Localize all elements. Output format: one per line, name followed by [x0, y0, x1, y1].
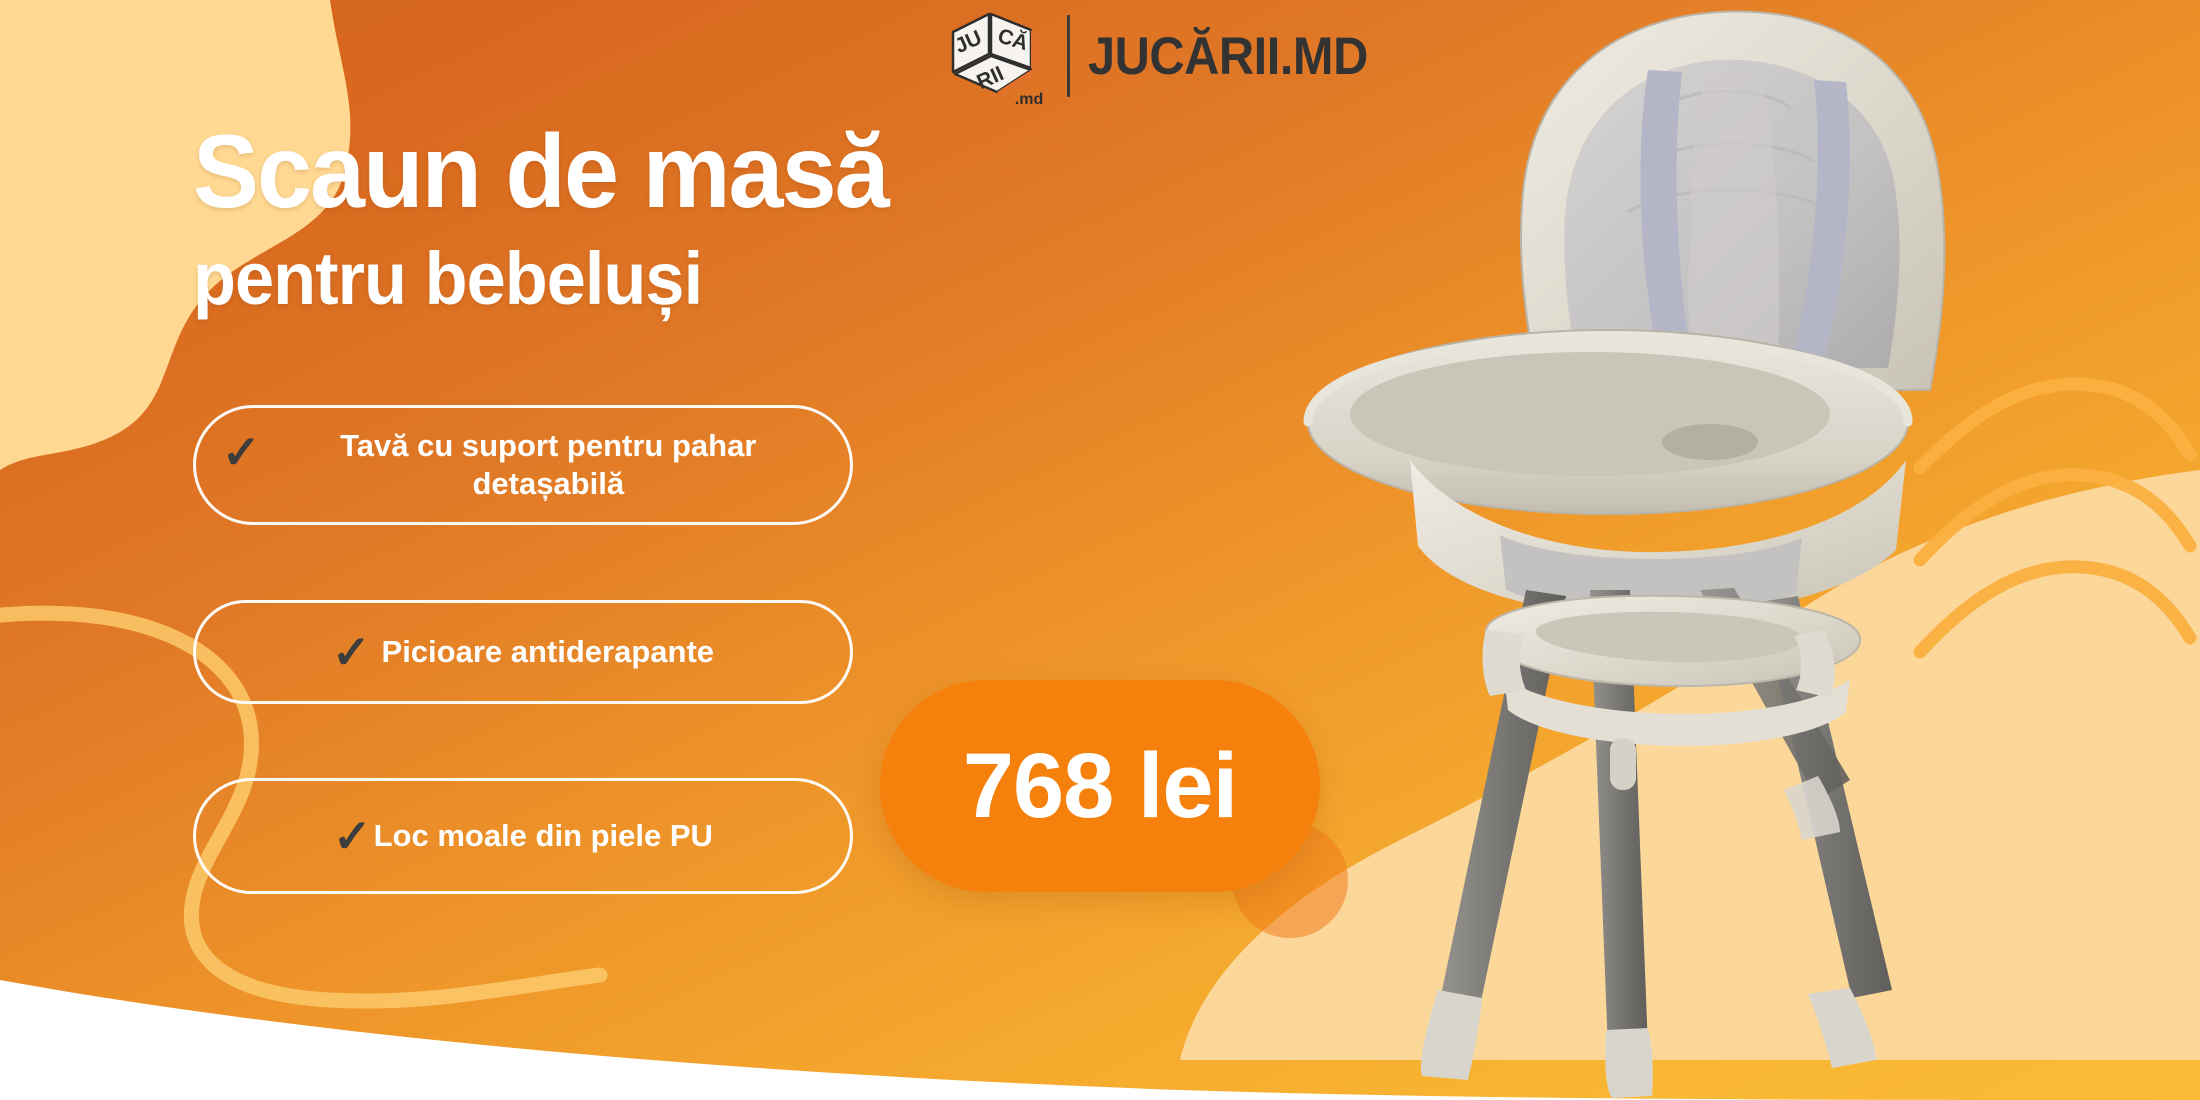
chair-foot-cap-right: [1808, 988, 1876, 1068]
feature-pill-legs[interactable]: ✓ Picioare antiderapante: [193, 600, 853, 704]
cushion-stitch-2: [1640, 144, 1815, 165]
cushion-stitch-1: [1660, 91, 1790, 110]
white-sweep-bottom-left: [0, 980, 2200, 1100]
chair-lower-brace-right: [1794, 630, 1835, 698]
chair-leg-front-right: [1760, 596, 1892, 998]
wave-line-right-1: [1920, 384, 2190, 468]
price-badge[interactable]: 768 lei: [880, 680, 1320, 892]
white-sweep-extra: [0, 985, 980, 1100]
logo-divider: [1067, 15, 1070, 97]
feature-pill-seat[interactable]: ✓ Loc moale din piele PU: [193, 778, 853, 894]
chair-foot-cap-rear-right: [1784, 776, 1840, 840]
wave-line-right-2: [1920, 475, 2190, 560]
cushion-stitch-3: [1628, 190, 1828, 212]
chair-footrest-inner: [1536, 612, 1802, 663]
feature-label: Tavă cu suport pentru pahar detașabilă: [273, 427, 824, 503]
chair-leg-front-left: [1440, 590, 1566, 1006]
chair-footrest: [1486, 596, 1860, 686]
chair-backrest-shell: [1521, 12, 1944, 390]
chair-lower-brace: [1483, 630, 1526, 696]
feature-pill-tray[interactable]: ✓ Tavă cu suport pentru pahar detașabilă: [193, 405, 853, 525]
chair-tray: [1308, 330, 1908, 514]
chair-seat-front-pad: [1500, 535, 1802, 612]
headline-line-1: Scaun de masă: [193, 120, 888, 224]
chair-seat-cushion: [1564, 60, 1899, 368]
price-value: 768 lei: [963, 740, 1237, 832]
feature-label: Loc moale din piele PU: [374, 818, 713, 854]
check-icon: ✓: [333, 818, 372, 855]
chair-foot-cap-left: [1421, 990, 1482, 1080]
headline-line-2: pentru bebeluși: [193, 242, 888, 316]
harness-strap-left: [1640, 70, 1694, 372]
jucarii-cube-icon: JU CĂ RII .md: [945, 6, 1049, 106]
wave-line-right-3: [1920, 567, 2190, 652]
brand-logo[interactable]: JU CĂ RII .md JUCĂRII.MD: [945, 6, 1392, 106]
chair-leg-rear-left: [1590, 590, 1648, 1050]
cream-blob-bottom-right: [1180, 470, 2200, 1060]
page-title: Scaun de masă pentru bebeluși: [193, 120, 924, 316]
brand-wordmark: JUCĂRII.MD: [1088, 30, 1368, 83]
harness-strap-right: [1788, 80, 1850, 374]
chair-foot-cap-rear: [1605, 1028, 1653, 1098]
feature-label: Picioare antiderapante: [382, 634, 715, 670]
svg-text:.md: .md: [1015, 91, 1043, 106]
chair-footrest-step: [1504, 676, 1850, 746]
chair-body-front: [1410, 460, 1906, 616]
check-icon: ✓: [222, 434, 261, 471]
chair-tray-lip: [1308, 338, 1908, 422]
cushion-center-panel: [1689, 75, 1780, 362]
promo-banner: JU CĂ RII .md JUCĂRII.MD Scaun de masă p…: [0, 0, 2200, 1100]
chair-footrest-peg: [1610, 738, 1636, 790]
check-icon: ✓: [332, 634, 371, 671]
product-image-high-chair: [1290, 0, 2080, 1100]
chair-tray-cup-holder: [1662, 424, 1758, 460]
chair-tray-inset: [1350, 352, 1830, 476]
chair-leg-rear-right: [1700, 588, 1850, 800]
